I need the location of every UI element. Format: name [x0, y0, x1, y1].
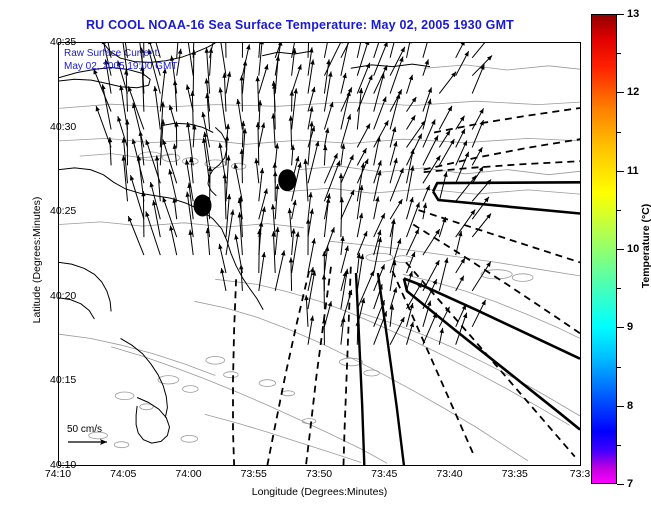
temperature-colorbar	[591, 14, 617, 484]
colorbar-tick	[617, 171, 624, 172]
x-tick-label: 74:05	[110, 468, 136, 480]
colorbar-tick	[617, 14, 624, 15]
annotation-line-1: Raw Surface Current:	[64, 47, 177, 60]
current-annotation: Raw Surface Current: May 02, 2005 19:00 …	[64, 47, 177, 73]
sst-current-map-figure: RU COOL NOAA-16 Sea Surface Temperature:…	[0, 0, 651, 515]
colorbar-minor-tick	[617, 53, 621, 54]
current-vector-field	[94, 43, 493, 345]
x-tick-label: 74:00	[175, 468, 201, 480]
colorbar-tick	[617, 249, 624, 250]
scale-legend-label: 50 cm/s	[67, 424, 113, 435]
colorbar-minor-tick	[617, 210, 621, 211]
colorbar-tick-label: 10	[627, 243, 639, 255]
x-axis-title: Longitude (Degrees:Minutes)	[58, 486, 581, 498]
x-tick-label: 73:35	[502, 468, 528, 480]
colorbar-tick-label: 13	[627, 8, 639, 20]
x-tick-label: 73:50	[306, 468, 332, 480]
vector-scale-legend: 50 cm/s	[67, 424, 113, 447]
colorbar-minor-tick	[617, 367, 621, 368]
colorbar-tick	[617, 484, 624, 485]
colorbar-tick-label: 8	[627, 400, 633, 412]
y-axis-title: Latitude (Degrees:Minutes)	[31, 160, 43, 360]
colorbar-tick	[617, 406, 624, 407]
colorbar-minor-tick	[617, 445, 621, 446]
radar-beam-lines	[233, 108, 580, 465]
colorbar-title: Temperature (°C)	[640, 166, 651, 326]
figure-title: RU COOL NOAA-16 Sea Surface Temperature:…	[0, 18, 600, 32]
colorbar-tick	[617, 92, 624, 93]
coastline-layer	[59, 43, 430, 443]
x-tick-label: 73:3	[570, 468, 590, 480]
colorbar-tick-label: 9	[627, 321, 633, 333]
arrow-right-icon	[67, 437, 113, 447]
colorbar-minor-tick	[617, 132, 621, 133]
x-tick-label: 73:45	[371, 468, 397, 480]
sst-contour-lines	[59, 65, 580, 463]
colorbar-tick-label: 11	[627, 165, 639, 177]
colorbar-tick-label: 7	[627, 478, 633, 490]
x-tick-label: 73:55	[241, 468, 267, 480]
colorbar-tick-label: 12	[627, 86, 639, 98]
map-canvas	[59, 43, 580, 465]
annotation-line-2: May 02, 2005 19:00 GMT	[64, 60, 177, 73]
x-tick-label: 73:40	[436, 468, 462, 480]
colorbar-minor-tick	[617, 288, 621, 289]
map-plot-area: Raw Surface Current: May 02, 2005 19:00 …	[58, 42, 581, 466]
colorbar-tick	[617, 327, 624, 328]
